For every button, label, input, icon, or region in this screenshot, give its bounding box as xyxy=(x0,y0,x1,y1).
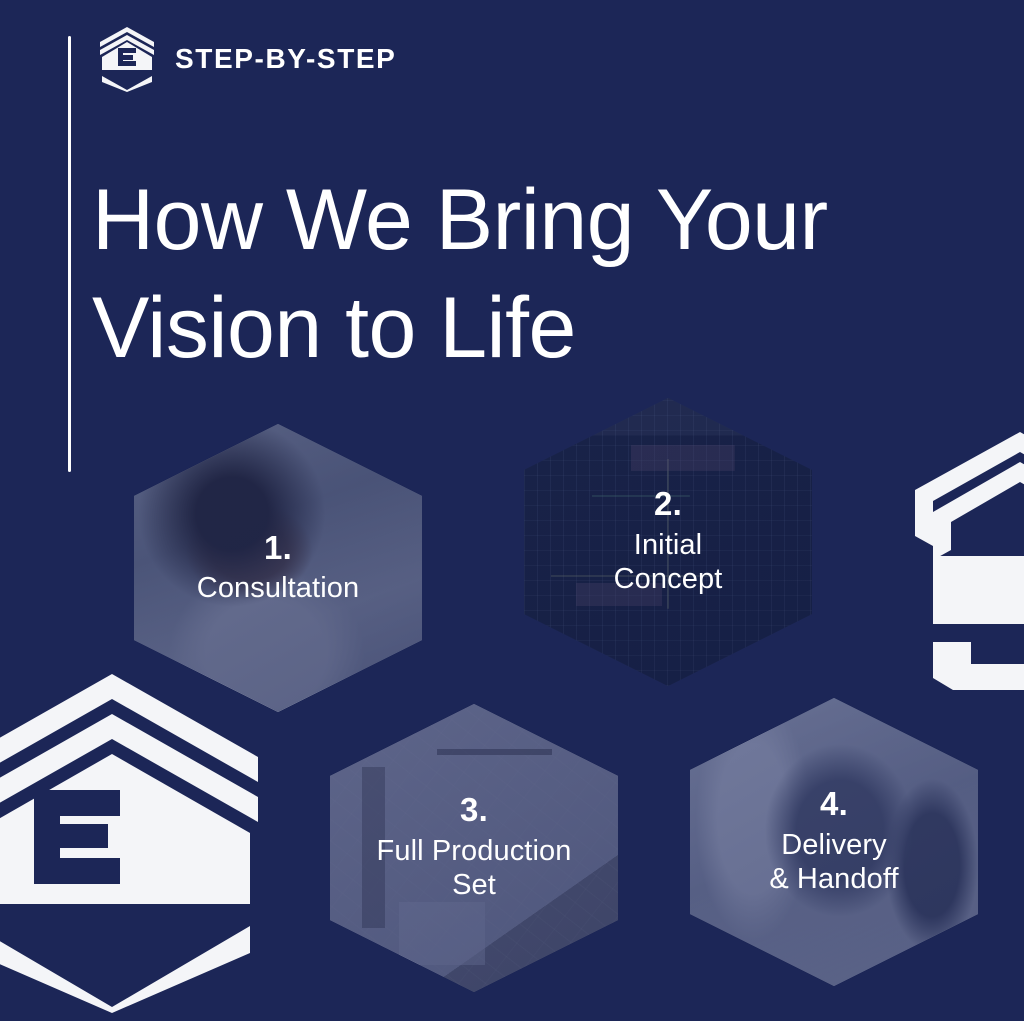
step-content-2: 2. Initial Concept xyxy=(524,398,812,686)
decorative-logo-bottom-left xyxy=(0,668,262,1013)
step-label-3: Full Production Set xyxy=(377,834,572,902)
step-label-3-line-1: Full Production xyxy=(377,834,572,868)
step-number-4: 4. xyxy=(820,787,848,822)
hexagon-house-e-logo-watermark-icon xyxy=(905,428,1024,690)
page-title-line-1: How We Bring Your xyxy=(92,166,972,274)
step-number-3: 3. xyxy=(460,793,488,828)
page-title-line-2: Vision to Life xyxy=(92,274,972,382)
decorative-logo-right-edge xyxy=(905,428,1024,690)
step-content-4: 4. Delivery & Handoff xyxy=(690,698,978,986)
page-title: How We Bring Your Vision to Life xyxy=(92,166,972,383)
hexagon-house-e-logo-watermark-icon xyxy=(0,668,262,1013)
step-hexagon-1[interactable]: 1. Consultation xyxy=(134,424,422,712)
title-accent-rule xyxy=(68,36,71,472)
step-content-1: 1. Consultation xyxy=(134,424,422,712)
step-label-4-line-1: Delivery xyxy=(769,828,898,862)
step-number-2: 2. xyxy=(654,487,682,522)
step-content-3: 3. Full Production Set xyxy=(330,704,618,992)
infographic-canvas: STEP-BY-STEP How We Bring Your Vision to… xyxy=(0,0,1024,1021)
eyebrow-label: STEP-BY-STEP xyxy=(175,45,396,73)
step-hexagon-4[interactable]: 4. Delivery & Handoff xyxy=(690,698,978,986)
step-number-1: 1. xyxy=(264,531,292,566)
step-label-3-line-2: Set xyxy=(377,868,572,902)
step-label-4-line-2: & Handoff xyxy=(769,862,898,896)
hexagon-house-e-logo-icon xyxy=(97,26,157,92)
step-label-1: Consultation xyxy=(197,571,359,605)
step-label-4: Delivery & Handoff xyxy=(769,828,898,896)
step-label-2-line-1: Initial xyxy=(614,528,723,562)
header: STEP-BY-STEP xyxy=(97,28,396,90)
step-hexagon-2[interactable]: 2. Initial Concept xyxy=(524,398,812,686)
step-label-2: Initial Concept xyxy=(614,528,723,596)
step-label-2-line-2: Concept xyxy=(614,562,723,596)
step-hexagon-3[interactable]: 3. Full Production Set xyxy=(330,704,618,992)
